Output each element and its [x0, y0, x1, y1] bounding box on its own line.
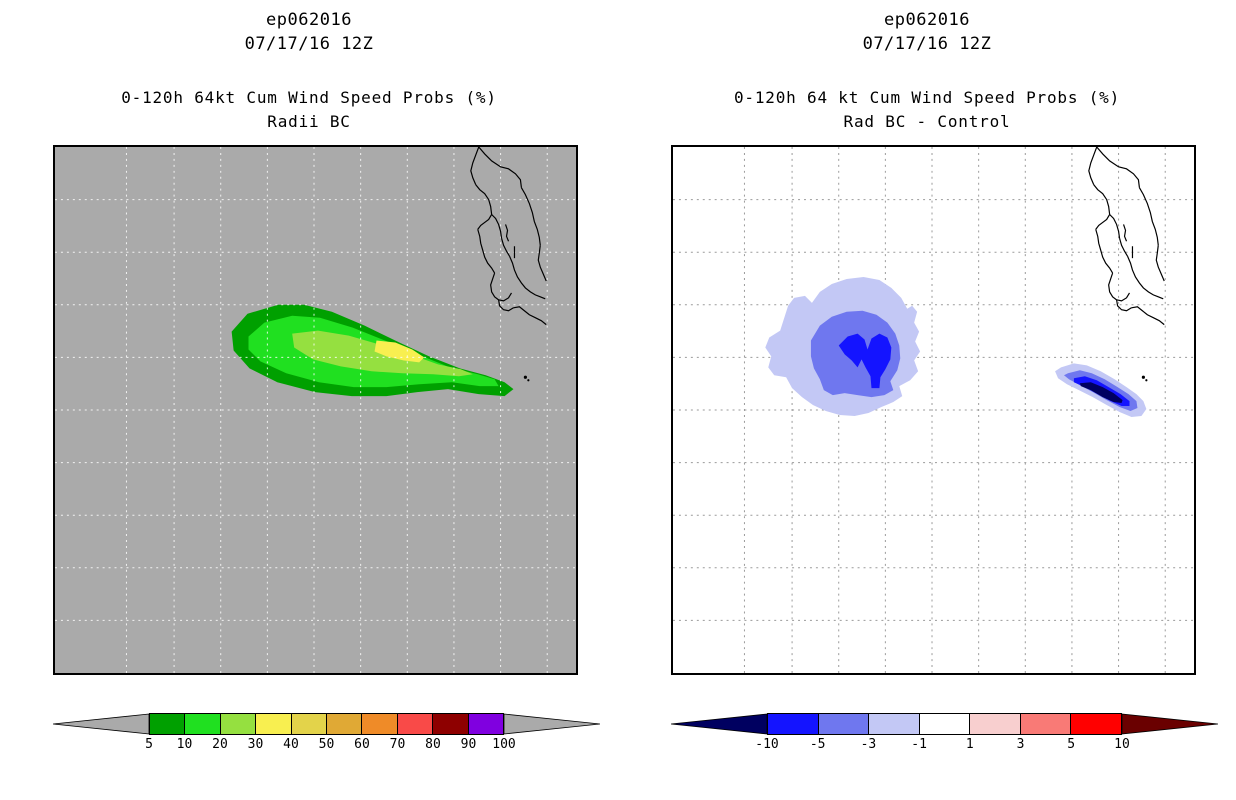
ytick	[53, 253, 55, 254]
colorbar-swatch-40	[291, 713, 326, 735]
ytick	[671, 306, 673, 307]
ytick	[671, 200, 673, 201]
colorbar-swatch-neg1	[919, 713, 970, 735]
ytick	[671, 624, 673, 625]
colorbar-swatch-pos1	[969, 713, 1020, 735]
cbar-label-pos1: 1	[966, 737, 974, 752]
xtick	[1028, 673, 1029, 675]
cbar-label-neg5: -5	[810, 737, 826, 752]
panel-right-title: 0-120h 64 kt Cum Wind Speed Probs (%)	[618, 88, 1236, 107]
xtick	[551, 673, 552, 675]
colorbar-left-cap-icon	[53, 713, 149, 735]
panel-right-subtitle: Rad BC - Control	[618, 112, 1236, 131]
colorbar-swatches	[149, 713, 504, 735]
panel-left-datetime: 07/17/16 12Z	[0, 34, 618, 54]
cbar-label-50: 50	[319, 737, 335, 752]
xtick	[745, 673, 746, 675]
ytick	[671, 359, 673, 360]
cbar-label-60: 60	[354, 737, 370, 752]
cbar-label-neg3: -3	[861, 737, 877, 752]
cbar-label-neg10: -10	[755, 737, 778, 752]
colorbar-swatch-5	[149, 713, 184, 735]
colorbar-swatch-neg5	[818, 713, 869, 735]
panel-left-subtitle: Radii BC	[0, 112, 618, 131]
colorbar-swatch-10	[184, 713, 219, 735]
colorbar-swatch-20	[220, 713, 255, 735]
xtick	[1075, 673, 1076, 675]
cbar-label-90: 90	[461, 737, 477, 752]
xtick	[504, 673, 505, 675]
cbar-label-20: 20	[212, 737, 228, 752]
cbar-label-pos5: 5	[1067, 737, 1075, 752]
cbar-label-10: 10	[177, 737, 193, 752]
xtick	[1122, 673, 1123, 675]
ytick	[671, 465, 673, 466]
coastline-baja-california	[673, 147, 1194, 673]
panel-right-datetime: 07/17/16 12Z	[618, 34, 1236, 54]
xtick	[127, 673, 128, 675]
cbar-label-5: 5	[145, 737, 153, 752]
colorbar-swatch-60	[361, 713, 396, 735]
ytick	[671, 518, 673, 519]
cbar-label-pos10: 10	[1114, 737, 1130, 752]
colorbar-swatch-pos3	[1020, 713, 1071, 735]
xtick	[934, 673, 935, 675]
xtick	[887, 673, 888, 675]
map-plot-radii-bc[interactable]: 8N 10N 12N 14N 16N 18N 20N 22N 24N 26N 1…	[53, 145, 578, 675]
ytick	[671, 571, 673, 572]
map-plot-difference[interactable]: 8N 10N 12N 14N 16N 18N 20N 22N 24N 26N 1…	[671, 145, 1196, 675]
colorbar-tick-labels: -10 -5 -3 -1 1 3 5 10	[767, 737, 1122, 757]
cbar-label-pos3: 3	[1017, 737, 1025, 752]
ytick	[53, 412, 55, 413]
cbar-label-40: 40	[283, 737, 299, 752]
colorbar-swatches	[767, 713, 1122, 735]
xtick	[981, 673, 982, 675]
xtick	[1169, 673, 1170, 675]
xtick	[363, 673, 364, 675]
colorbar-swatch-30	[255, 713, 290, 735]
colorbar-swatch-pos5	[1070, 713, 1122, 735]
panel-left-storm-id: ep062016	[0, 10, 618, 30]
cbar-label-30: 30	[248, 737, 264, 752]
xtick	[793, 673, 794, 675]
panel-left-title: 0-120h 64kt Cum Wind Speed Probs (%)	[0, 88, 618, 107]
ytick	[53, 306, 55, 307]
colorbar-swatch-neg3	[868, 713, 919, 735]
panel-radii-bc: ep062016 07/17/16 12Z 0-120h 64kt Cum Wi…	[0, 0, 618, 800]
colorbar-swatch-50	[326, 713, 361, 735]
cbar-label-neg1: -1	[911, 737, 927, 752]
colorbar-left-cap-icon	[671, 713, 767, 735]
ytick	[53, 518, 55, 519]
colorbar-swatch-70	[397, 713, 432, 735]
ytick	[53, 147, 55, 148]
ytick	[53, 359, 55, 360]
xtick	[840, 673, 841, 675]
colorbar-right-cap-icon	[1122, 713, 1218, 735]
xtick	[175, 673, 176, 675]
ytick	[53, 465, 55, 466]
colorbar-probability[interactable]: 5 10 20 30 40 50 60 70 80 90 100	[53, 713, 578, 760]
panel-rad-bc-minus-control: ep062016 07/17/16 12Z 0-120h 64 kt Cum W…	[618, 0, 1236, 800]
cbar-label-70: 70	[390, 737, 406, 752]
colorbar-right-cap-icon	[504, 713, 600, 735]
colorbar-swatch-neg10	[767, 713, 818, 735]
ytick	[53, 624, 55, 625]
colorbar-swatch-80	[432, 713, 467, 735]
ytick	[671, 147, 673, 148]
ytick	[671, 412, 673, 413]
ytick	[671, 253, 673, 254]
cbar-label-100: 100	[492, 737, 515, 752]
xtick	[222, 673, 223, 675]
xtick	[410, 673, 411, 675]
xtick	[316, 673, 317, 675]
colorbar-difference[interactable]: -10 -5 -3 -1 1 3 5 10	[671, 713, 1196, 760]
colorbar-swatch-90	[468, 713, 504, 735]
ytick	[53, 571, 55, 572]
colorbar-tick-labels: 5 10 20 30 40 50 60 70 80 90 100	[149, 737, 504, 757]
xtick	[269, 673, 270, 675]
cbar-label-80: 80	[425, 737, 441, 752]
coastline-baja-california	[55, 147, 576, 673]
panel-right-storm-id: ep062016	[618, 10, 1236, 30]
xtick	[457, 673, 458, 675]
ytick	[53, 200, 55, 201]
